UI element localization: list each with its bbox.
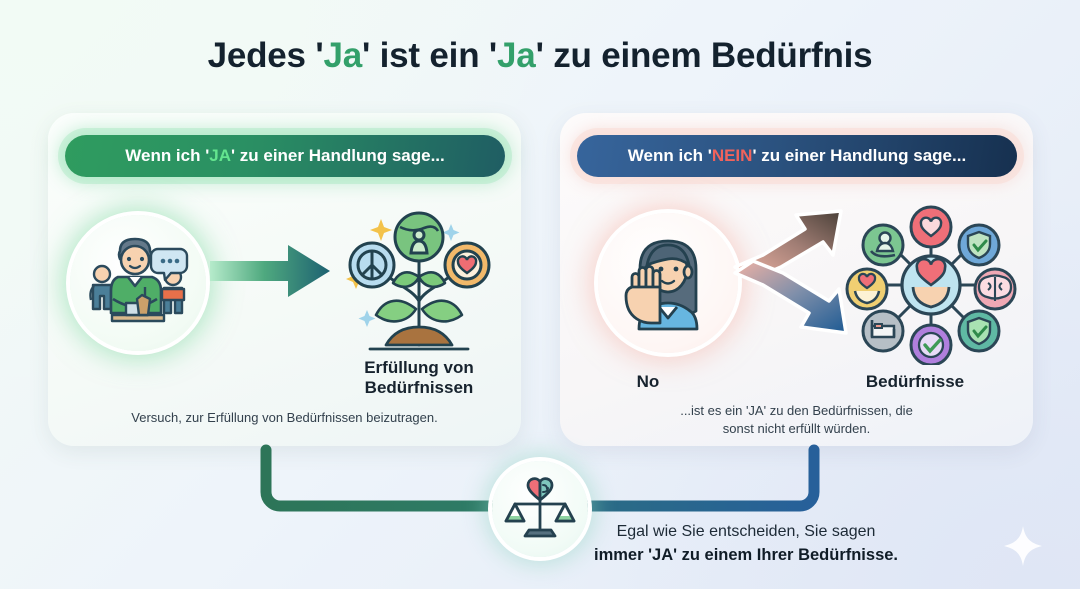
- no-header-prefix: Wenn ich ': [628, 146, 712, 166]
- page-title: Jedes 'Ja' ist ein 'Ja' zu einem Bedürfn…: [0, 36, 1080, 76]
- fulfilment-label-line-2: Bedürfnissen: [324, 378, 514, 398]
- title-part-1: Jedes ': [208, 36, 324, 75]
- fulfilment-result-label: Erfüllung von Bedürfnissen: [324, 358, 514, 398]
- yes-header-prefix: Wenn ich ': [125, 146, 209, 166]
- no-scenario-caption: ...ist es ein 'JA' zu den Bedürfnissen, …: [580, 402, 1013, 437]
- stop-hand-svg: [610, 225, 726, 341]
- no-result-label: No: [588, 372, 708, 392]
- yes-header-highlight: JA: [209, 146, 231, 166]
- growing-plant-needs-illustration: [334, 205, 504, 360]
- yes-scenario-header-pill: Wenn ich 'JA' zu einer Handlung sage...: [65, 135, 505, 177]
- no-scenario-header-pill: Wenn ich 'NEIN' zu einer Handlung sage..…: [577, 135, 1017, 177]
- yes-scenario-caption: Versuch, zur Erfüllung von Bedürfnissen …: [68, 409, 501, 427]
- parent-children-svg: [82, 227, 194, 339]
- woman-stop-hand-illustration: [598, 213, 738, 353]
- no-scenario-card: Wenn ich 'NEIN' zu einer Handlung sage..…: [560, 113, 1033, 446]
- fulfilment-label-line-1: Erfüllung von: [324, 358, 514, 378]
- no-header-suffix: ' zu einer Handlung sage...: [752, 146, 966, 166]
- yes-scenario-card: Wenn ich 'JA' zu einer Handlung sage...: [48, 113, 521, 446]
- no-caption-line-2: sonst nicht erfüllt würden.: [580, 420, 1013, 438]
- no-header-highlight: NEIN: [712, 146, 753, 166]
- parent-with-children-illustration: [70, 215, 206, 351]
- needs-result-label: Bedürfnisse: [820, 372, 1010, 392]
- yes-header-suffix: ' zu einer Handlung sage...: [231, 146, 445, 166]
- needs-network-svg: [841, 205, 1021, 365]
- yes-flow-arrow: [208, 241, 333, 301]
- needs-network-illustration: [841, 205, 1021, 365]
- bottom-banner-text: Egal wie Sie entscheiden, Sie sagen imme…: [536, 521, 956, 567]
- title-accent-2: Ja: [497, 36, 536, 75]
- banner-line-1: Egal wie Sie entscheiden, Sie sagen: [536, 521, 956, 544]
- title-accent-1: Ja: [323, 36, 362, 75]
- title-part-2: ' ist ein ': [362, 36, 497, 75]
- plant-svg: [334, 205, 504, 360]
- title-part-3: ' zu einem Bedürfnis: [536, 36, 873, 75]
- banner-line-2: immer 'JA' zu einem Ihrer Bedürfnisse.: [536, 544, 956, 567]
- no-caption-line-1: ...ist es ein 'JA' zu den Bedürfnissen, …: [580, 402, 1013, 420]
